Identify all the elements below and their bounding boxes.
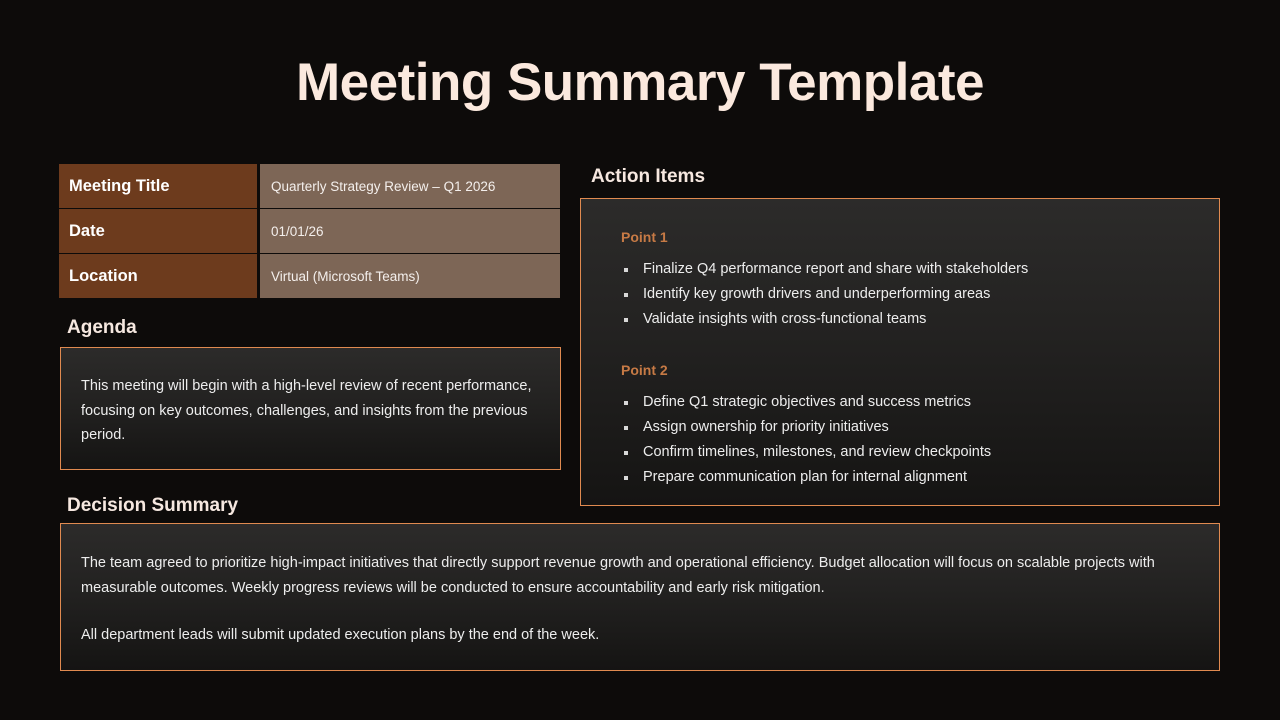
point-1-label: Point 1 — [621, 229, 1197, 245]
info-label-meeting-title: Meeting Title — [59, 164, 257, 208]
list-item: Prepare communication plan for internal … — [621, 465, 1197, 490]
table-row: Date 01/01/26 — [59, 209, 560, 253]
table-row: Location Virtual (Microsoft Teams) — [59, 254, 560, 298]
point-2-label: Point 2 — [621, 362, 1197, 378]
info-label-location: Location — [59, 254, 257, 298]
point-2-list: Define Q1 strategic objectives and succe… — [621, 390, 1197, 490]
list-item: Identify key growth drivers and underper… — [621, 282, 1197, 307]
info-value-location: Virtual (Microsoft Teams) — [260, 254, 560, 298]
list-item: Assign ownership for priority initiative… — [621, 415, 1197, 440]
decision-paragraph-1: The team agreed to prioritize high-impac… — [81, 551, 1197, 600]
action-items-content: Point 1 Finalize Q4 performance report a… — [581, 199, 1219, 490]
meeting-info-table: Meeting Title Quarterly Strategy Review … — [59, 163, 560, 299]
list-item: Define Q1 strategic objectives and succe… — [621, 390, 1197, 415]
list-item: Validate insights with cross-functional … — [621, 307, 1197, 332]
info-value-date: 01/01/26 — [260, 209, 560, 253]
page-title: Meeting Summary Template — [0, 54, 1280, 112]
list-item: Finalize Q4 performance report and share… — [621, 257, 1197, 282]
decision-summary-heading: Decision Summary — [67, 495, 238, 517]
agenda-body: This meeting will begin with a high-leve… — [61, 348, 560, 448]
decision-summary-panel: The team agreed to prioritize high-impac… — [60, 523, 1220, 671]
info-label-date: Date — [59, 209, 257, 253]
agenda-panel: This meeting will begin with a high-leve… — [60, 347, 561, 470]
action-items-heading: Action Items — [591, 166, 705, 188]
slide-canvas: Meeting Summary Template Meeting Title Q… — [0, 0, 1280, 720]
agenda-heading: Agenda — [67, 317, 137, 339]
action-items-panel: Point 1 Finalize Q4 performance report a… — [580, 198, 1220, 506]
point-1-list: Finalize Q4 performance report and share… — [621, 257, 1197, 332]
decision-paragraph-2: All department leads will submit updated… — [81, 623, 1197, 648]
table-row: Meeting Title Quarterly Strategy Review … — [59, 164, 560, 208]
decision-summary-content: The team agreed to prioritize high-impac… — [61, 524, 1219, 648]
paragraph-spacer — [81, 600, 1197, 623]
list-item: Confirm timelines, milestones, and revie… — [621, 440, 1197, 465]
info-value-meeting-title: Quarterly Strategy Review – Q1 2026 — [260, 164, 560, 208]
